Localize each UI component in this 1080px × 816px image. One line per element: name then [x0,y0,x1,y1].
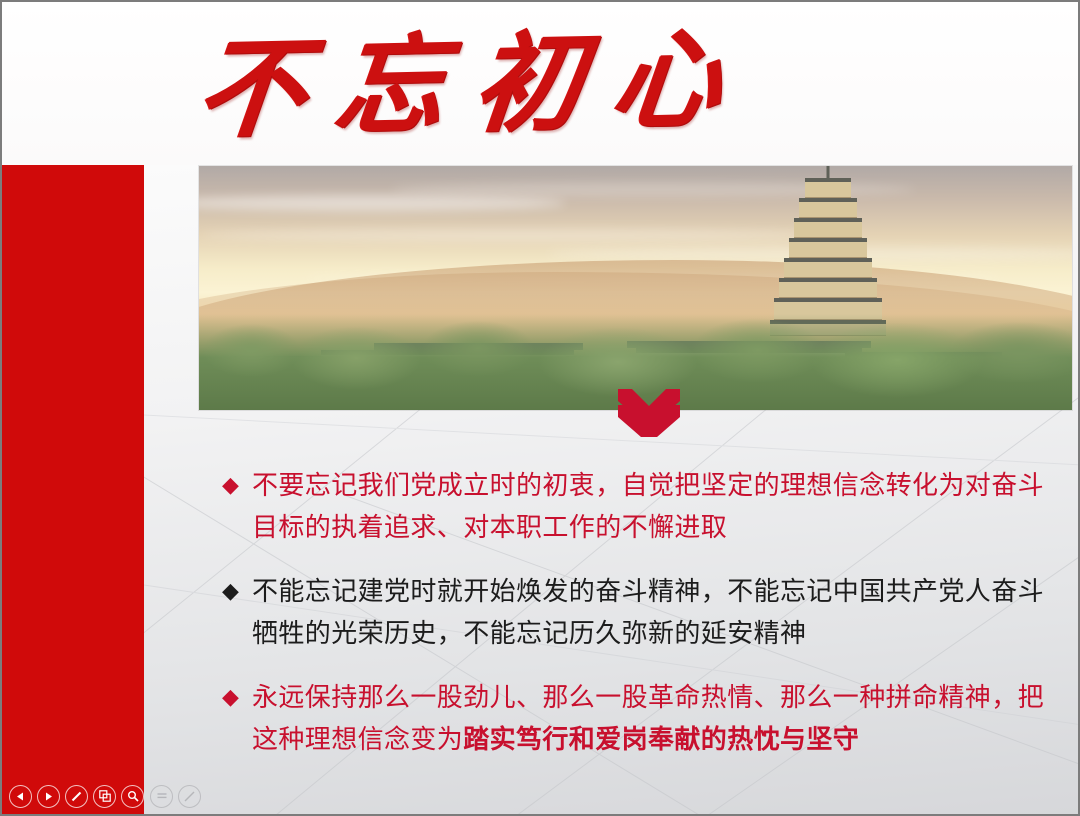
toolbar-right-group [144,778,1080,814]
double-chevron-down-icon [614,387,684,437]
list-item-text: 永远保持那么一股劲儿、那么一股革命热情、那么一种拼命精神，把这种理想信念变为踏实… [252,676,1062,760]
list-item-text: 不能忘记建党时就开始焕发的奋斗精神，不能忘记中国共产党人奋斗牺牲的光荣历史，不能… [252,570,1062,654]
copy-layers-icon [99,790,111,802]
triangle-left-icon [16,792,25,801]
previous-slide-button[interactable] [9,785,32,808]
list-item: ◆ 不要忘记我们党成立时的初衷，自觉把坚定的理想信念转化为对奋斗目标的执着追求、… [222,464,1062,548]
pagoda-tier [799,198,857,218]
menu-list-icon [156,791,168,801]
pen-off-button[interactable] [178,785,201,808]
magnifier-icon [127,790,139,802]
pen-tool-button[interactable] [65,785,88,808]
menu-button[interactable] [150,785,173,808]
title-band: 不忘初心 [2,2,1080,165]
hero-image [199,166,1072,410]
list-item: ◆ 永远保持那么一股劲儿、那么一股革命热情、那么一种拼命精神，把这种理想信念变为… [222,676,1062,760]
slide-overview-button[interactable] [93,785,116,808]
pagoda-tier [805,178,851,198]
page-title: 不忘初心 [191,14,806,157]
pagoda-tier [789,238,867,258]
pagoda-tier [794,218,862,238]
diamond-bullet-icon: ◆ [222,570,252,612]
pagoda-tier [784,258,872,278]
bullet-list: ◆ 不要忘记我们党成立时的初衷，自觉把坚定的理想信念转化为对奋斗目标的执着追求、… [222,464,1062,782]
zoom-search-button[interactable] [121,785,144,808]
list-item: ◆ 不能忘记建党时就开始焕发的奋斗精神，不能忘记中国共产党人奋斗牺牲的光荣历史，… [222,570,1062,654]
triangle-right-icon [44,792,53,801]
pagoda-spire [827,166,830,178]
list-item-emphasis: 踏实笃行和爱岗奉献的热忱与坚守 [463,724,859,754]
diamond-bullet-icon: ◆ [222,464,252,506]
player-toolbar [2,778,1080,814]
pagoda-tier [779,278,877,298]
diamond-bullet-icon: ◆ [222,676,252,718]
next-slide-button[interactable] [37,785,60,808]
presentation-slide: 不忘初心 [0,0,1080,816]
left-accent-bar [2,165,144,816]
pen-icon [70,790,83,803]
toolbar-left-group [2,778,144,814]
list-item-text: 不要忘记我们党成立时的初衷，自觉把坚定的理想信念转化为对奋斗目标的执着追求、对本… [252,464,1062,548]
pen-off-icon [183,790,196,803]
